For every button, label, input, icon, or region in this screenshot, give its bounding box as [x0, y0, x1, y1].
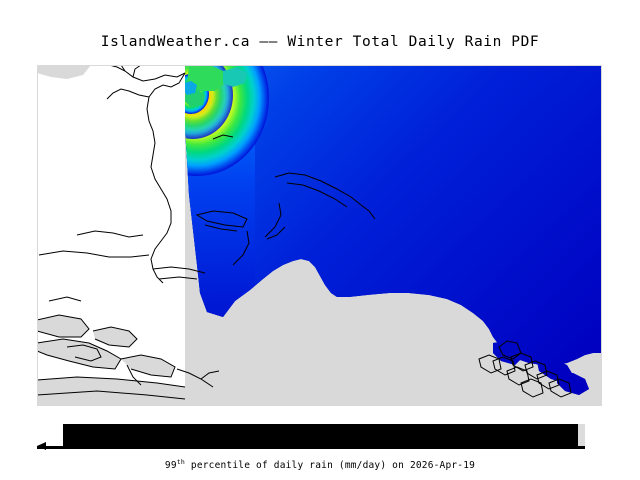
colorbar-over-cap: [578, 424, 585, 447]
caption-percentile-number: 99: [165, 460, 177, 471]
caption-percentile-suffix: th: [177, 458, 185, 466]
caption-date: 2026-Apr-19: [410, 460, 475, 471]
caption-text: percentile of daily rain (mm/day) on: [185, 460, 410, 471]
page-title: IslandWeather.ca —— Winter Total Daily R…: [0, 34, 640, 50]
colorbar-caption: 99th percentile of daily rain (mm/day) o…: [0, 458, 640, 471]
colorbar-gradient[interactable]: [63, 424, 578, 447]
map-plot-area[interactable]: [37, 65, 602, 406]
screenshot-root: IslandWeather.ca —— Winter Total Daily R…: [0, 0, 640, 480]
map-canvas[interactable]: [37, 65, 602, 406]
colorbar-container[interactable]: [37, 418, 602, 454]
colorbar-axis-line: [37, 446, 585, 449]
